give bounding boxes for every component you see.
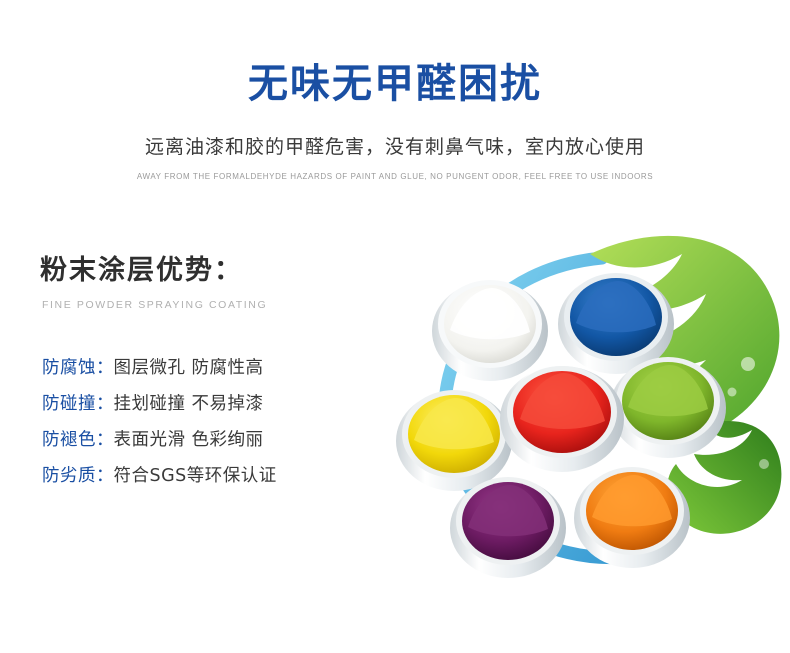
feature-list: 防腐蚀 ： 图层微孔 防腐性高 防碰撞 ： 挂划碰撞 不易掉漆 防褪色 ： 表面… — [42, 358, 372, 502]
list-item: 防褪色 ： 表面光滑 色彩绚丽 — [42, 430, 372, 452]
page-headline: 无味无甲醛困扰 — [0, 64, 790, 104]
feature-value: 表面光滑 色彩绚丽 — [114, 430, 264, 452]
red-powder-jar — [500, 366, 624, 472]
white-powder-jar — [432, 280, 548, 381]
promo-page: 无味无甲醛困扰 远离油漆和胶的甲醛危害，没有刺鼻气味，室内放心使用 AWAY F… — [0, 0, 790, 653]
powder-jars-illustration — [376, 196, 790, 606]
list-item: 防碰撞 ： 挂划碰撞 不易掉漆 — [42, 394, 372, 416]
feature-key: 防腐蚀 — [42, 358, 96, 380]
feature-value: 挂划碰撞 不易掉漆 — [114, 394, 264, 416]
feature-colon: ： — [96, 430, 114, 452]
page-subheadline-english: AWAY FROM THE FORMALDEHYDE HAZARDS OF PA… — [0, 172, 790, 181]
feature-value: 图层微孔 防腐性高 — [114, 358, 264, 380]
feature-value: 符合SGS等环保认证 — [114, 466, 277, 488]
list-item: 防腐蚀 ： 图层微孔 防腐性高 — [42, 358, 372, 380]
feature-key: 防碰撞 — [42, 394, 96, 416]
yellow-powder-jar — [396, 390, 512, 491]
feature-colon: ： — [96, 466, 114, 488]
feature-colon: ： — [96, 394, 114, 416]
list-item: 防劣质 ： 符合SGS等环保认证 — [42, 466, 372, 488]
section-title: 粉末涂层优势： — [40, 248, 243, 287]
section-title-english: FINE POWDER SPRAYING COATING — [42, 299, 267, 311]
feature-colon: ： — [96, 358, 114, 380]
feature-key: 防劣质 — [42, 466, 96, 488]
page-subheadline: 远离油漆和胶的甲醛危害，没有刺鼻气味，室内放心使用 — [0, 135, 790, 160]
feature-key: 防褪色 — [42, 430, 96, 452]
